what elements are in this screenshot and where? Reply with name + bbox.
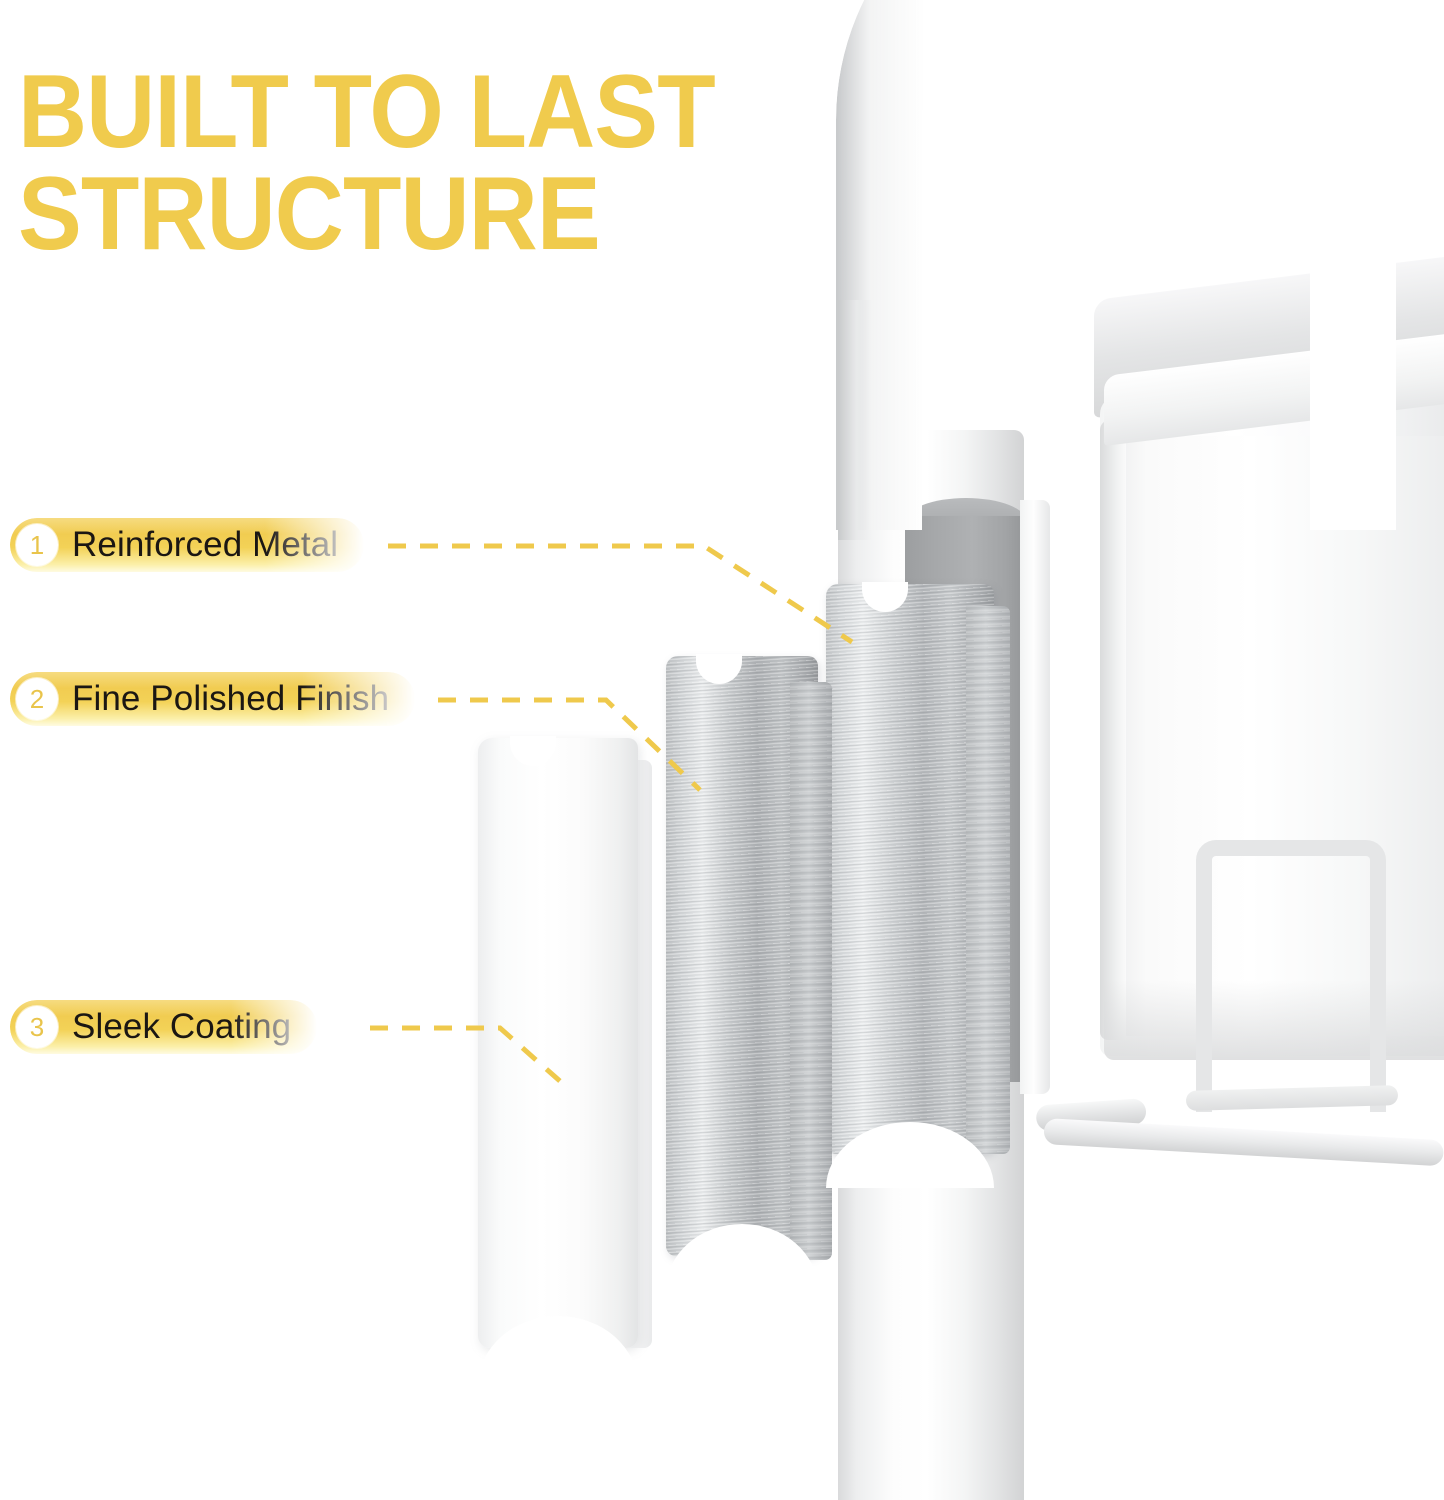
sleeve-back-flange bbox=[966, 606, 1010, 1154]
pole-right-lip bbox=[1020, 500, 1050, 1094]
white-cover-panel bbox=[478, 738, 638, 1348]
callout-label-3: Sleek Coating bbox=[72, 1007, 291, 1047]
callout-reinforced-metal[interactable]: 1 Reinforced Metal bbox=[10, 518, 364, 572]
callout-label-2: Fine Polished Finish bbox=[72, 679, 389, 719]
cover-top-notch bbox=[510, 736, 556, 766]
callout-fine-polished-finish[interactable]: 2 Fine Polished Finish bbox=[10, 672, 415, 726]
sleeve-front-flange bbox=[790, 682, 832, 1260]
callout-badge-3: 3 bbox=[16, 1006, 58, 1048]
callout-badge-2: 2 bbox=[16, 678, 58, 720]
page-title: BUILT TO LAST STRUCTURE bbox=[18, 62, 717, 266]
wire-hook-divider bbox=[1196, 840, 1386, 1112]
metal-grain-texture bbox=[790, 682, 832, 1260]
horizontal-wire-rail bbox=[1043, 1118, 1444, 1166]
curved-handle-shading bbox=[836, 0, 1396, 530]
callout-sleek-coating[interactable]: 3 Sleek Coating bbox=[10, 1000, 317, 1054]
handle-left-shadow bbox=[838, 300, 872, 540]
callout-badge-1: 1 bbox=[16, 524, 58, 566]
metal-grain-texture bbox=[966, 606, 1010, 1154]
callout-label-1: Reinforced Metal bbox=[72, 525, 338, 565]
infographic-canvas: BUILT TO LAST STRUCTURE 1 Reinforced Met… bbox=[0, 0, 1444, 1500]
